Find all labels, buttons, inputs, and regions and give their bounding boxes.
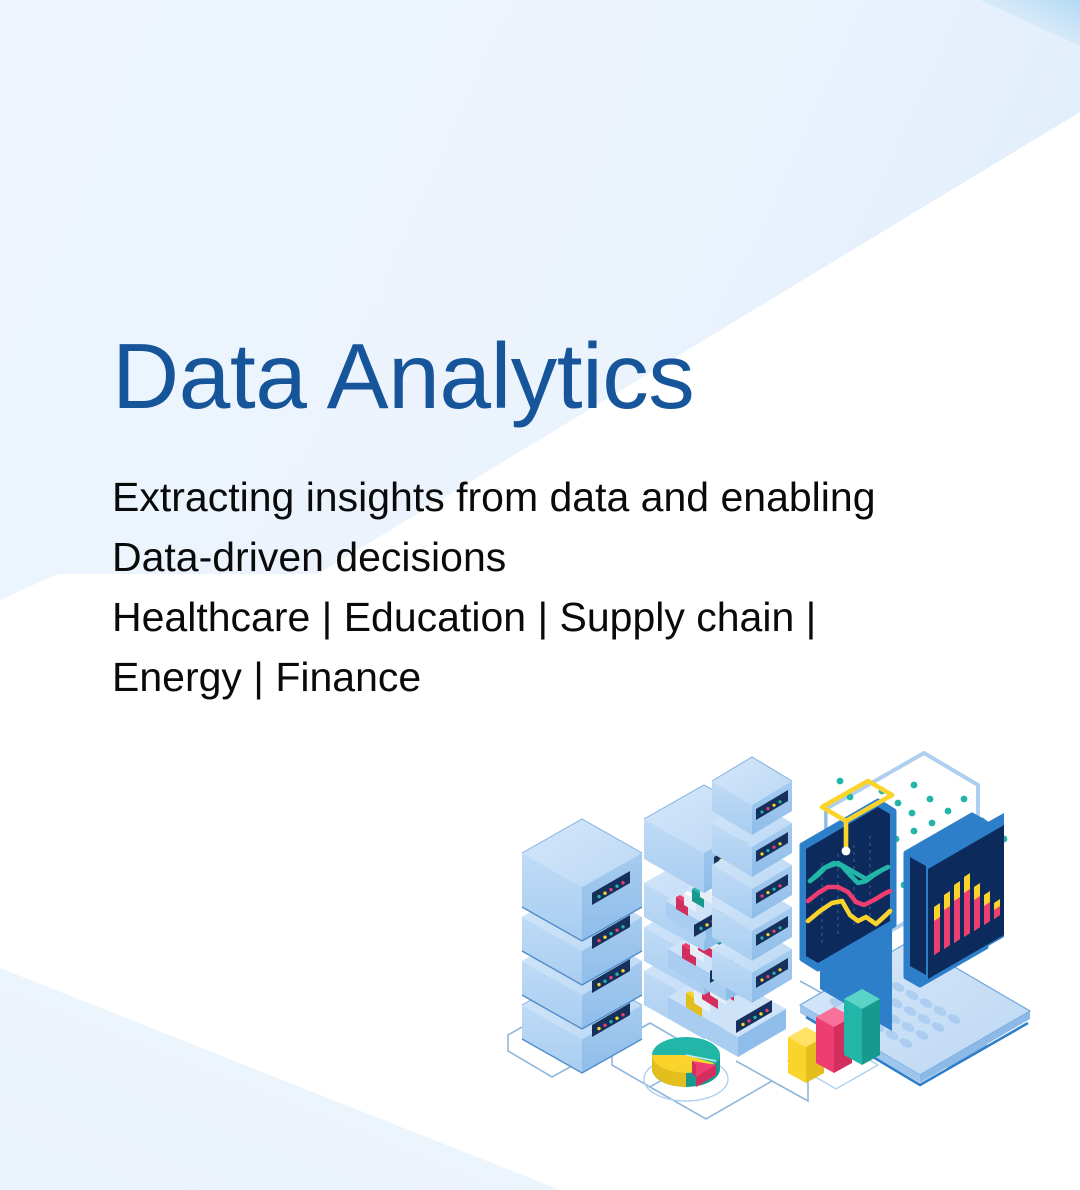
subtitle-line-3: Healthcare | Education | Supply chain | — [112, 587, 992, 647]
background-shape-bottom — [0, 968, 560, 1190]
subtitle-line-2: Data-driven decisions — [112, 527, 992, 587]
data-analytics-illustration — [500, 735, 1060, 1135]
hero-text-block: Data Analytics Extracting insights from … — [112, 330, 992, 707]
bar-teal — [844, 989, 880, 1065]
slide-root: Data Analytics Extracting insights from … — [0, 0, 1080, 1190]
floating-screen-line-chart — [802, 781, 894, 1031]
server-rack-left — [522, 819, 642, 1073]
page-title: Data Analytics — [112, 330, 992, 423]
subtitle-group: Extracting insights from data and enabli… — [112, 467, 992, 707]
subtitle-line-1: Extracting insights from data and enabli… — [112, 467, 992, 527]
server-rack-right — [712, 757, 792, 1003]
subtitle-line-4: Energy | Finance — [112, 647, 992, 707]
